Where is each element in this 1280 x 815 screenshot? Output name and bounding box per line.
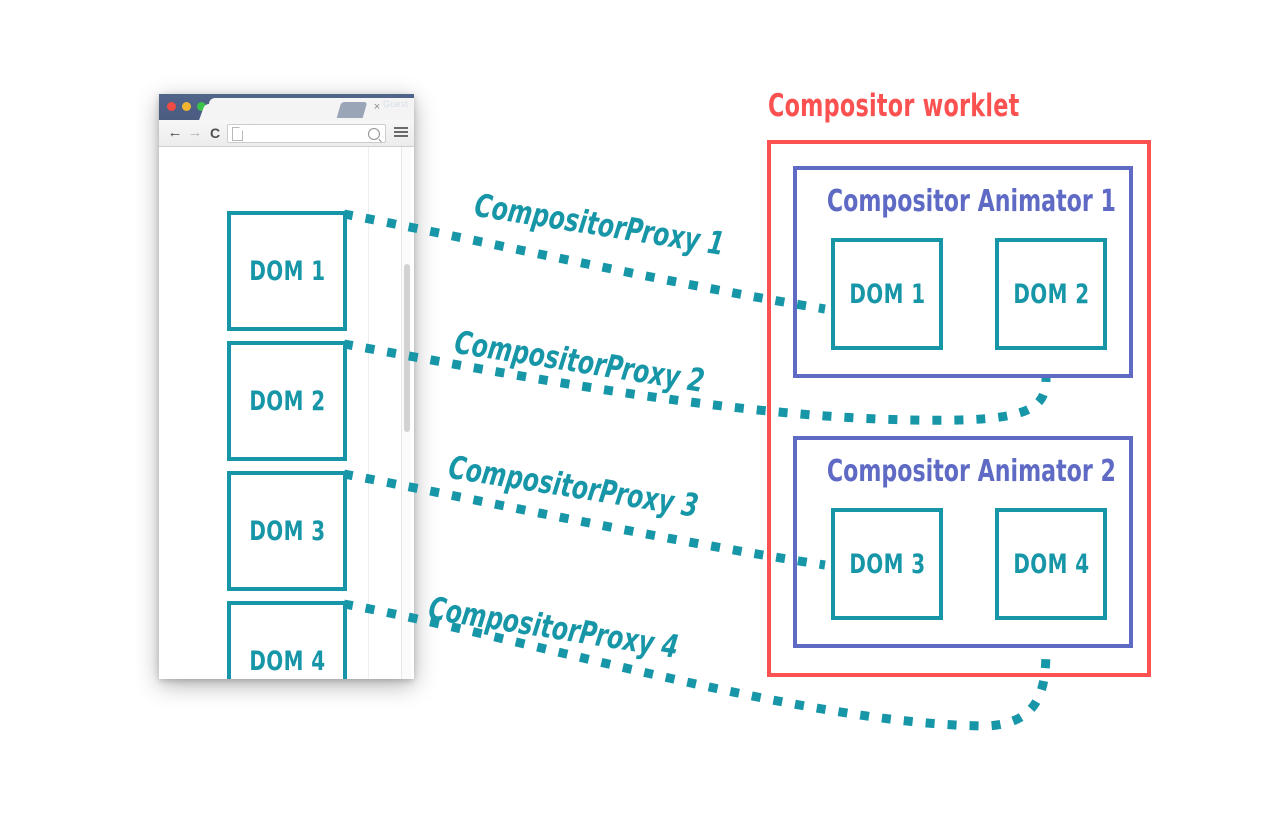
compositor-animator-1: Compositor Animator 1 DOM 1 DOM 2	[793, 166, 1133, 378]
animator-dom-box-label: DOM 1	[849, 279, 925, 310]
tab-close-icon[interactable]: ×	[372, 102, 382, 112]
compositor-animator-1-title: Compositor Animator 1	[827, 184, 1099, 219]
page-dom-box-4: DOM 4	[227, 601, 347, 679]
page-dom-box-2: DOM 2	[227, 341, 347, 461]
page-dom-box-1: DOM 1	[227, 211, 347, 331]
reload-icon[interactable]: C	[207, 125, 223, 141]
compositor-worklet-container: Compositor Animator 1 DOM 1 DOM 2 Compos…	[767, 140, 1151, 677]
browser-tabstrip: × Guest	[159, 94, 414, 120]
page-dom-box-label: DOM 1	[249, 256, 325, 287]
browser-toolbar: ← → C	[159, 120, 414, 147]
animator-2-dom-box-3: DOM 3	[831, 508, 943, 620]
content-edge-divider	[368, 147, 369, 679]
compositor-animator-2-title: Compositor Animator 2	[827, 454, 1099, 489]
page-dom-box-label: DOM 2	[249, 386, 325, 417]
animator-dom-box-label: DOM 3	[849, 549, 925, 580]
page-viewport: DOM 1 DOM 2 DOM 3 DOM 4	[159, 147, 414, 679]
animator-2-dom-box-4: DOM 4	[995, 508, 1107, 620]
proxy-label-1: CompositorProxy 1	[472, 186, 727, 263]
animator-dom-box-label: DOM 2	[1013, 279, 1089, 310]
back-arrow-icon[interactable]: ←	[167, 125, 183, 141]
page-document-icon	[232, 127, 243, 141]
window-controls[interactable]	[167, 102, 206, 111]
close-window-icon[interactable]	[167, 102, 176, 111]
profile-label[interactable]: Guest	[383, 99, 408, 109]
page-dom-box-label: DOM 4	[249, 646, 325, 677]
animator-1-dom-box-1: DOM 1	[831, 238, 943, 350]
browser-window: × Guest ← → C DOM 1	[159, 94, 414, 679]
animator-dom-box-label: DOM 4	[1013, 549, 1089, 580]
compositor-animator-2: Compositor Animator 2 DOM 3 DOM 4	[793, 436, 1133, 648]
page-dom-box-label: DOM 3	[249, 516, 325, 547]
animator-1-dom-box-2: DOM 2	[995, 238, 1107, 350]
minimize-window-icon[interactable]	[182, 102, 191, 111]
new-tab-button[interactable]	[337, 102, 368, 118]
search-icon[interactable]	[368, 128, 380, 140]
proxy-label-2: CompositorProxy 2	[452, 323, 707, 400]
proxy-label-3: CompositorProxy 3	[446, 448, 701, 525]
compositor-worklet-title: Compositor worklet	[768, 88, 1020, 124]
address-bar[interactable]	[227, 124, 386, 143]
proxy-label-4: CompositorProxy 4	[426, 589, 681, 666]
forward-arrow-icon[interactable]: →	[187, 125, 203, 141]
diagram-canvas: × Guest ← → C DOM 1	[0, 0, 1280, 815]
hamburger-menu-icon[interactable]	[394, 127, 408, 139]
page-dom-box-3: DOM 3	[227, 471, 347, 591]
vertical-scrollbar-thumb[interactable]	[404, 264, 410, 432]
